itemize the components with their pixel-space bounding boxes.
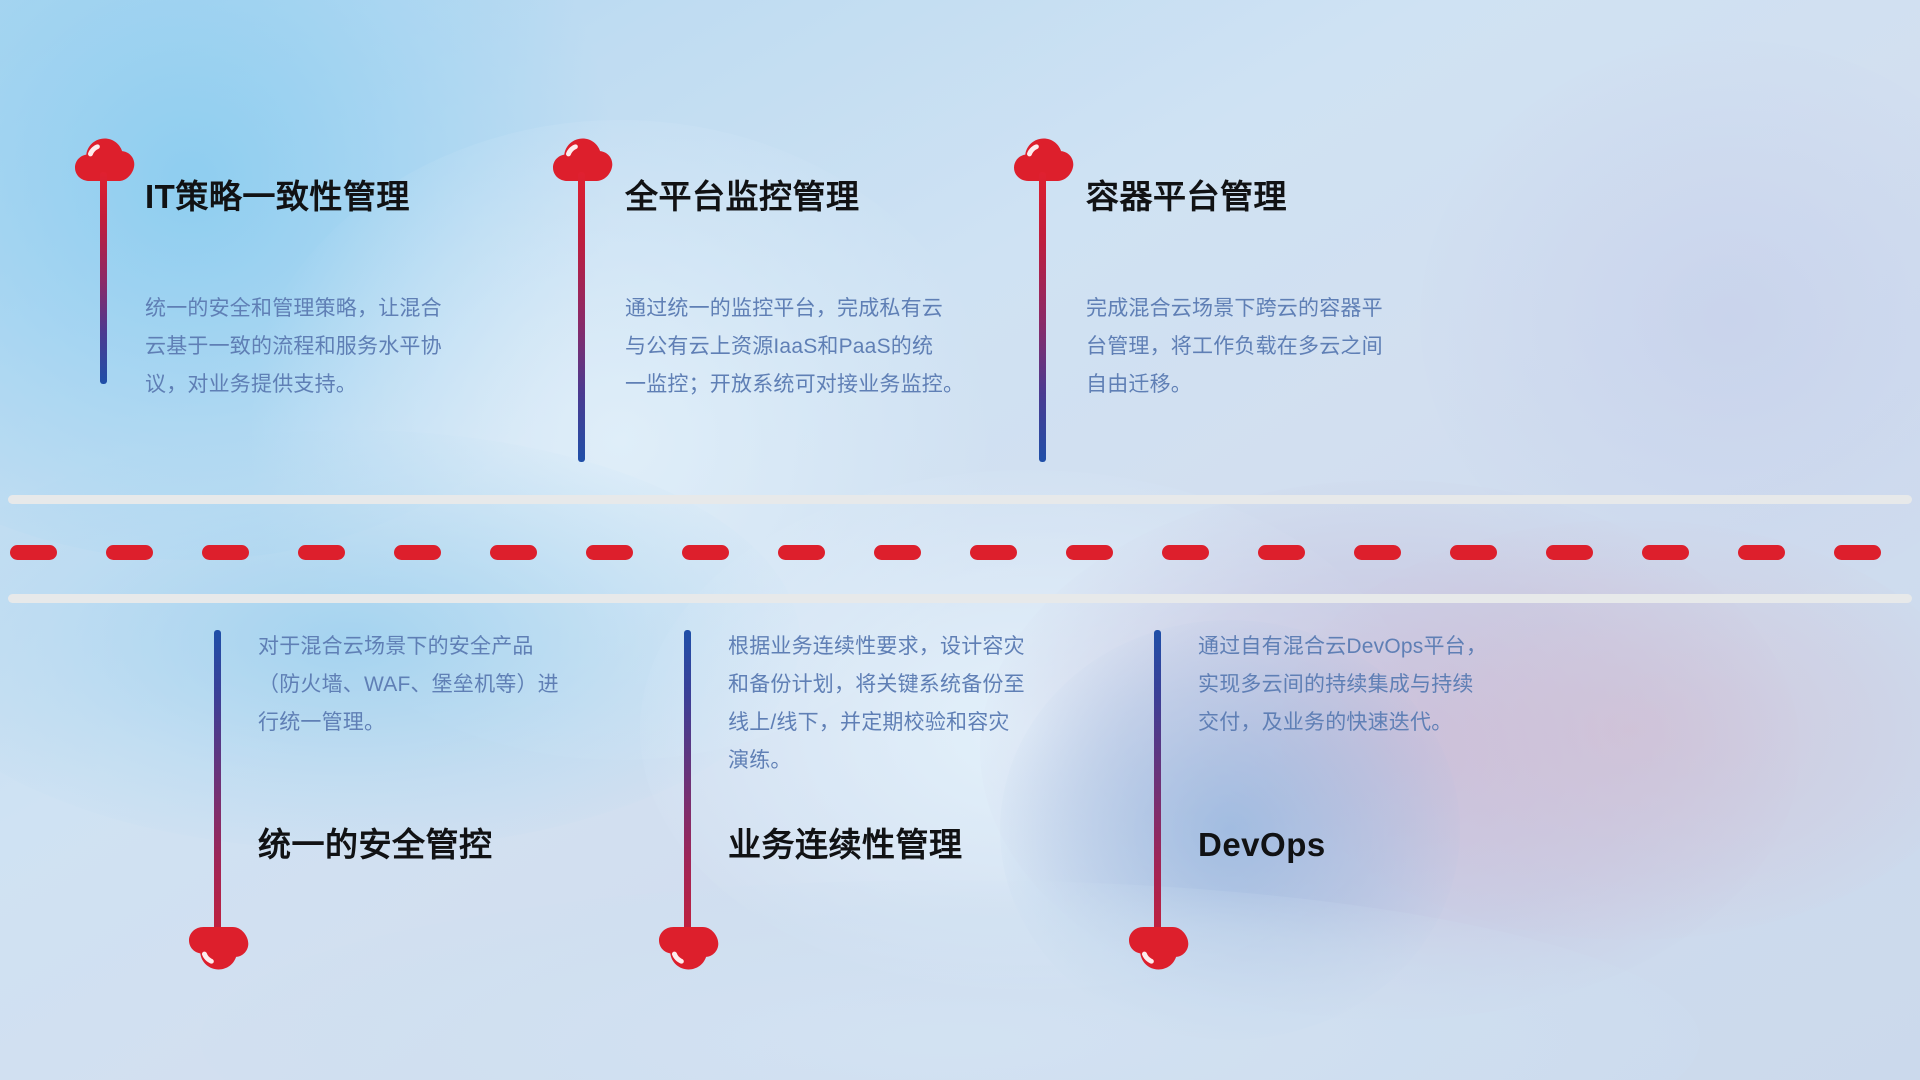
connector-stem bbox=[214, 630, 221, 935]
card-body: 通过统一的监控平台，完成私有云 与公有云上资源IaaS和PaaS的统 一监控；开… bbox=[625, 290, 1025, 404]
connector-stem bbox=[578, 172, 585, 462]
divider-dash bbox=[10, 545, 57, 560]
card-body: 统一的安全和管理策略，让混合 云基于一致的流程和服务水平协 议，对业务提供支持。 bbox=[145, 290, 525, 404]
divider-rail-top bbox=[8, 495, 1912, 504]
divider-dash bbox=[394, 545, 441, 560]
connector-stem bbox=[1039, 172, 1046, 462]
divider-dash bbox=[1450, 545, 1497, 560]
connector-stem bbox=[1154, 630, 1161, 935]
divider-dash bbox=[202, 545, 249, 560]
cloud-icon bbox=[1127, 925, 1189, 973]
divider-dash bbox=[1258, 545, 1305, 560]
divider-dash bbox=[1354, 545, 1401, 560]
card-heading: DevOps bbox=[1198, 828, 1326, 861]
cloud-icon bbox=[657, 925, 719, 973]
divider-dashed-line bbox=[0, 545, 1920, 560]
card-heading: IT策略一致性管理 bbox=[145, 180, 410, 213]
infographic-canvas: IT策略一致性管理 统一的安全和管理策略，让混合 云基于一致的流程和服务水平协 … bbox=[0, 0, 1920, 1080]
divider-dash bbox=[490, 545, 537, 560]
connector-stem bbox=[684, 630, 691, 935]
card-body: 通过自有混合云DevOps平台， 实现多云间的持续集成与持续 交付，及业务的快速… bbox=[1198, 628, 1598, 742]
divider-dash bbox=[1642, 545, 1689, 560]
card-body: 根据业务连续性要求，设计容灾 和备份计划，将关键系统备份至 线上/线下，并定期校… bbox=[728, 628, 1128, 780]
divider-dash bbox=[586, 545, 633, 560]
card-heading: 容器平台管理 bbox=[1086, 180, 1287, 213]
divider-dash bbox=[298, 545, 345, 560]
background-blob-bottom bbox=[200, 880, 1700, 1080]
connector-stem bbox=[100, 172, 107, 384]
divider-dash bbox=[106, 545, 153, 560]
divider-dash bbox=[1162, 545, 1209, 560]
divider-dash bbox=[682, 545, 729, 560]
divider-dash bbox=[970, 545, 1017, 560]
card-body: 完成混合云场景下跨云的容器平 台管理，将工作负载在多云之间 自由迁移。 bbox=[1086, 290, 1486, 404]
card-heading: 统一的安全管控 bbox=[258, 828, 493, 861]
divider-dash bbox=[874, 545, 921, 560]
card-heading: 业务连续性管理 bbox=[728, 828, 963, 861]
divider-dash bbox=[778, 545, 825, 560]
divider-dash bbox=[1834, 545, 1881, 560]
background-blob-upper-left bbox=[0, 0, 640, 560]
card-body: 对于混合云场景下的安全产品 （防火墙、WAF、堡垒机等）进 行统一管理。 bbox=[258, 628, 658, 742]
card-heading: 全平台监控管理 bbox=[625, 180, 860, 213]
divider-dash bbox=[1738, 545, 1785, 560]
divider-dash bbox=[1066, 545, 1113, 560]
background-blob-upper-right bbox=[1420, 40, 1920, 600]
cloud-icon bbox=[187, 925, 249, 973]
divider-dash bbox=[1546, 545, 1593, 560]
divider-rail-bottom bbox=[8, 594, 1912, 603]
